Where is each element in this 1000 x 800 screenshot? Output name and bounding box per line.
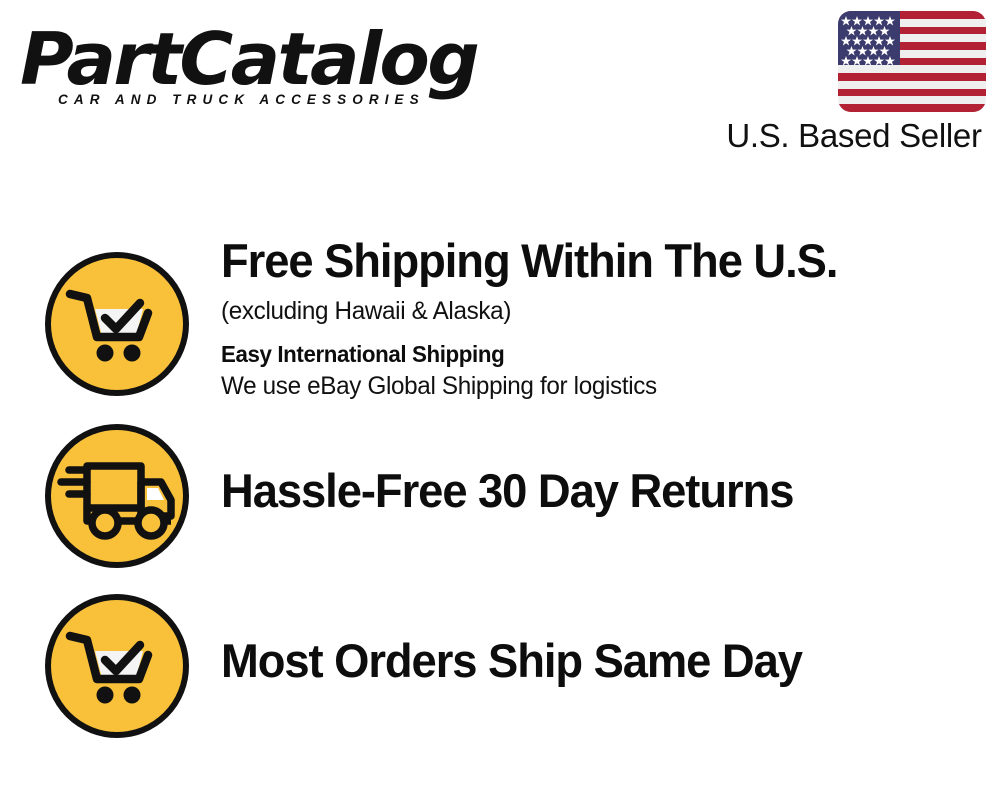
brand-logo[interactable]: PartCatalog CAR AND TRUCK ACCESSORIES (20, 18, 500, 123)
flag-canton (838, 11, 900, 65)
us-flag-icon (838, 11, 986, 112)
logo-wordmark: PartCatalog (20, 18, 477, 100)
shopping-cart-check-icon (43, 250, 191, 398)
us-based-seller-label: U.S. Based Seller (722, 117, 986, 155)
shopping-cart-check-icon (43, 592, 191, 740)
benefit-text-block: Most Orders Ship Same Day (221, 636, 823, 686)
benefit-title: Free Shipping Within The U.S. (221, 236, 837, 286)
flag-stars (838, 11, 900, 66)
flag-stripe (838, 89, 986, 97)
logo-tagline: CAR AND TRUCK ACCESSORIES (58, 92, 425, 107)
flag-stripe (838, 73, 986, 81)
flag-stripe (838, 104, 986, 112)
benefit-title: Hassle-Free 30 Day Returns (221, 466, 793, 516)
benefit-text-block: Hassle-Free 30 Day Returns (221, 466, 814, 516)
benefit-subtitle: Easy International Shipping (221, 339, 841, 370)
benefit-text-block: Free Shipping Within The U.S. (excluding… (221, 236, 860, 403)
benefit-title: Most Orders Ship Same Day (221, 636, 802, 686)
page-header: PartCatalog CAR AND TRUCK ACCESSORIES (0, 0, 1000, 180)
benefit-note: (excluding Hawaii & Alaska) (221, 295, 841, 328)
benefit-subtext: We use eBay Global Shipping for logistic… (221, 370, 841, 403)
delivery-truck-icon (43, 422, 191, 570)
